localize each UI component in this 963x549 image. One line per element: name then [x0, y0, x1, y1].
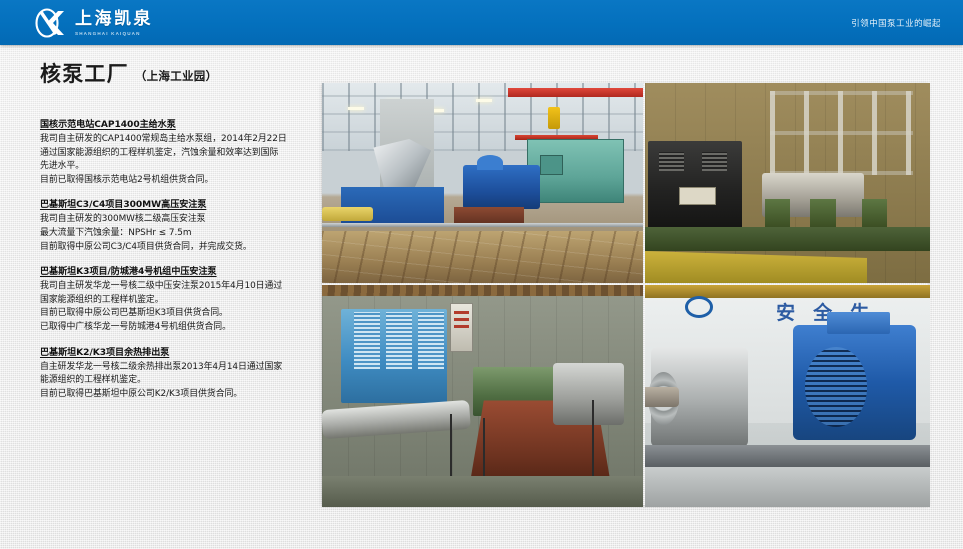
- page-title-main: 核泵工厂: [40, 63, 129, 86]
- header-slogan: 引领中国泵工业的崛起: [851, 0, 941, 45]
- photo-grid: 安 全 生: [322, 83, 928, 505]
- page-header: 上海凯泉 SHANGHAI KAIQUAN 引领中国泵工业的崛起: [0, 0, 963, 45]
- section-line: 我司自主研发的300MW核二级高压安注泵: [40, 213, 308, 227]
- section-line: 通过国家能源组织的工程样机鉴定，汽蚀余量和效率达到国际: [40, 147, 308, 161]
- section-line: 我司自主研发华龙一号核二级中压安注泵2015年4月10日通过: [40, 280, 308, 294]
- photo-residual-heat-removal-pump: 安 全 生: [645, 285, 930, 507]
- photo-high-pressure-safety-injection-pump: [645, 83, 930, 283]
- logo-text-cn: 上海凯泉: [75, 10, 153, 29]
- section-heading: 国核示范电站CAP1400主给水泵: [40, 118, 308, 132]
- section-line: 最大流量下汽蚀余量：NPSHr ≤ 7.5m: [40, 227, 308, 241]
- page-title-sub: （上海工业园）: [135, 68, 218, 86]
- section-line: 先进水平。: [40, 160, 308, 174]
- logo-text-en: SHANGHAI KAIQUAN: [75, 30, 153, 37]
- section-line: 目前已取得国核示范电站2号机组供货合同。: [40, 174, 308, 188]
- left-text-column: 核泵工厂 （上海工业园） 国核示范电站CAP1400主给水泵 我司自主研发的CA…: [0, 45, 322, 549]
- section-heading: 巴基斯坦K2/K3项目余热排出泵: [40, 346, 308, 360]
- section-line: 我司自主研发的CAP1400常规岛主给水泵组，2014年2月22日: [40, 133, 308, 147]
- wall-slogan-char: 安: [776, 298, 797, 325]
- section-heading: 巴基斯坦C3/C4项目300MW高压安注泵: [40, 198, 308, 212]
- section-block: 巴基斯坦K2/K3项目余热排出泵 自主研发华龙一号核二级余热排出泵2013年4月…: [40, 346, 308, 402]
- section-line: 能源组织的工程样机鉴定。: [40, 374, 308, 388]
- section-block: 巴基斯坦C3/C4项目300MW高压安注泵 我司自主研发的300MW核二级高压安…: [40, 198, 308, 254]
- slide-canvas: 上海凯泉 SHANGHAI KAIQUAN 引领中国泵工业的崛起 核泵工厂 （上…: [0, 0, 963, 549]
- kaiquan-logo-icon: [34, 8, 68, 38]
- section-line: 已取得中广核华龙一号防城港4号机组供货合同。: [40, 321, 308, 335]
- content-sections: 国核示范电站CAP1400主给水泵 我司自主研发的CAP1400常规岛主给水泵组…: [40, 118, 308, 401]
- section-line: 自主研发华龙一号核二级余热排出泵2013年4月14日通过国家: [40, 361, 308, 375]
- section-block: 国核示范电站CAP1400主给水泵 我司自主研发的CAP1400常规岛主给水泵组…: [40, 118, 308, 187]
- section-line: 目前已取得中原公司巴基斯坦K3项目供货合同。: [40, 307, 308, 321]
- brand-logo[interactable]: 上海凯泉 SHANGHAI KAIQUAN: [34, 8, 153, 38]
- photo-medium-pressure-safety-injection-pump: [322, 285, 643, 507]
- section-line: 国家能源组织的工程样机鉴定。: [40, 294, 308, 308]
- page-title: 核泵工厂 （上海工业园）: [40, 63, 217, 86]
- section-heading: 巴基斯坦K3项目/防城港4号机组中压安注泵: [40, 265, 308, 279]
- section-line: 目前已取得巴基斯坦中原公司K2/K3项目供货合同。: [40, 388, 308, 402]
- section-block: 巴基斯坦K3项目/防城港4号机组中压安注泵 我司自主研发华龙一号核二级中压安注泵…: [40, 265, 308, 334]
- section-line: 目前取得中原公司C3/C4项目供货合同，并完成交货。: [40, 241, 308, 255]
- photo-main-feedwater-pump-test-rig: [322, 83, 643, 283]
